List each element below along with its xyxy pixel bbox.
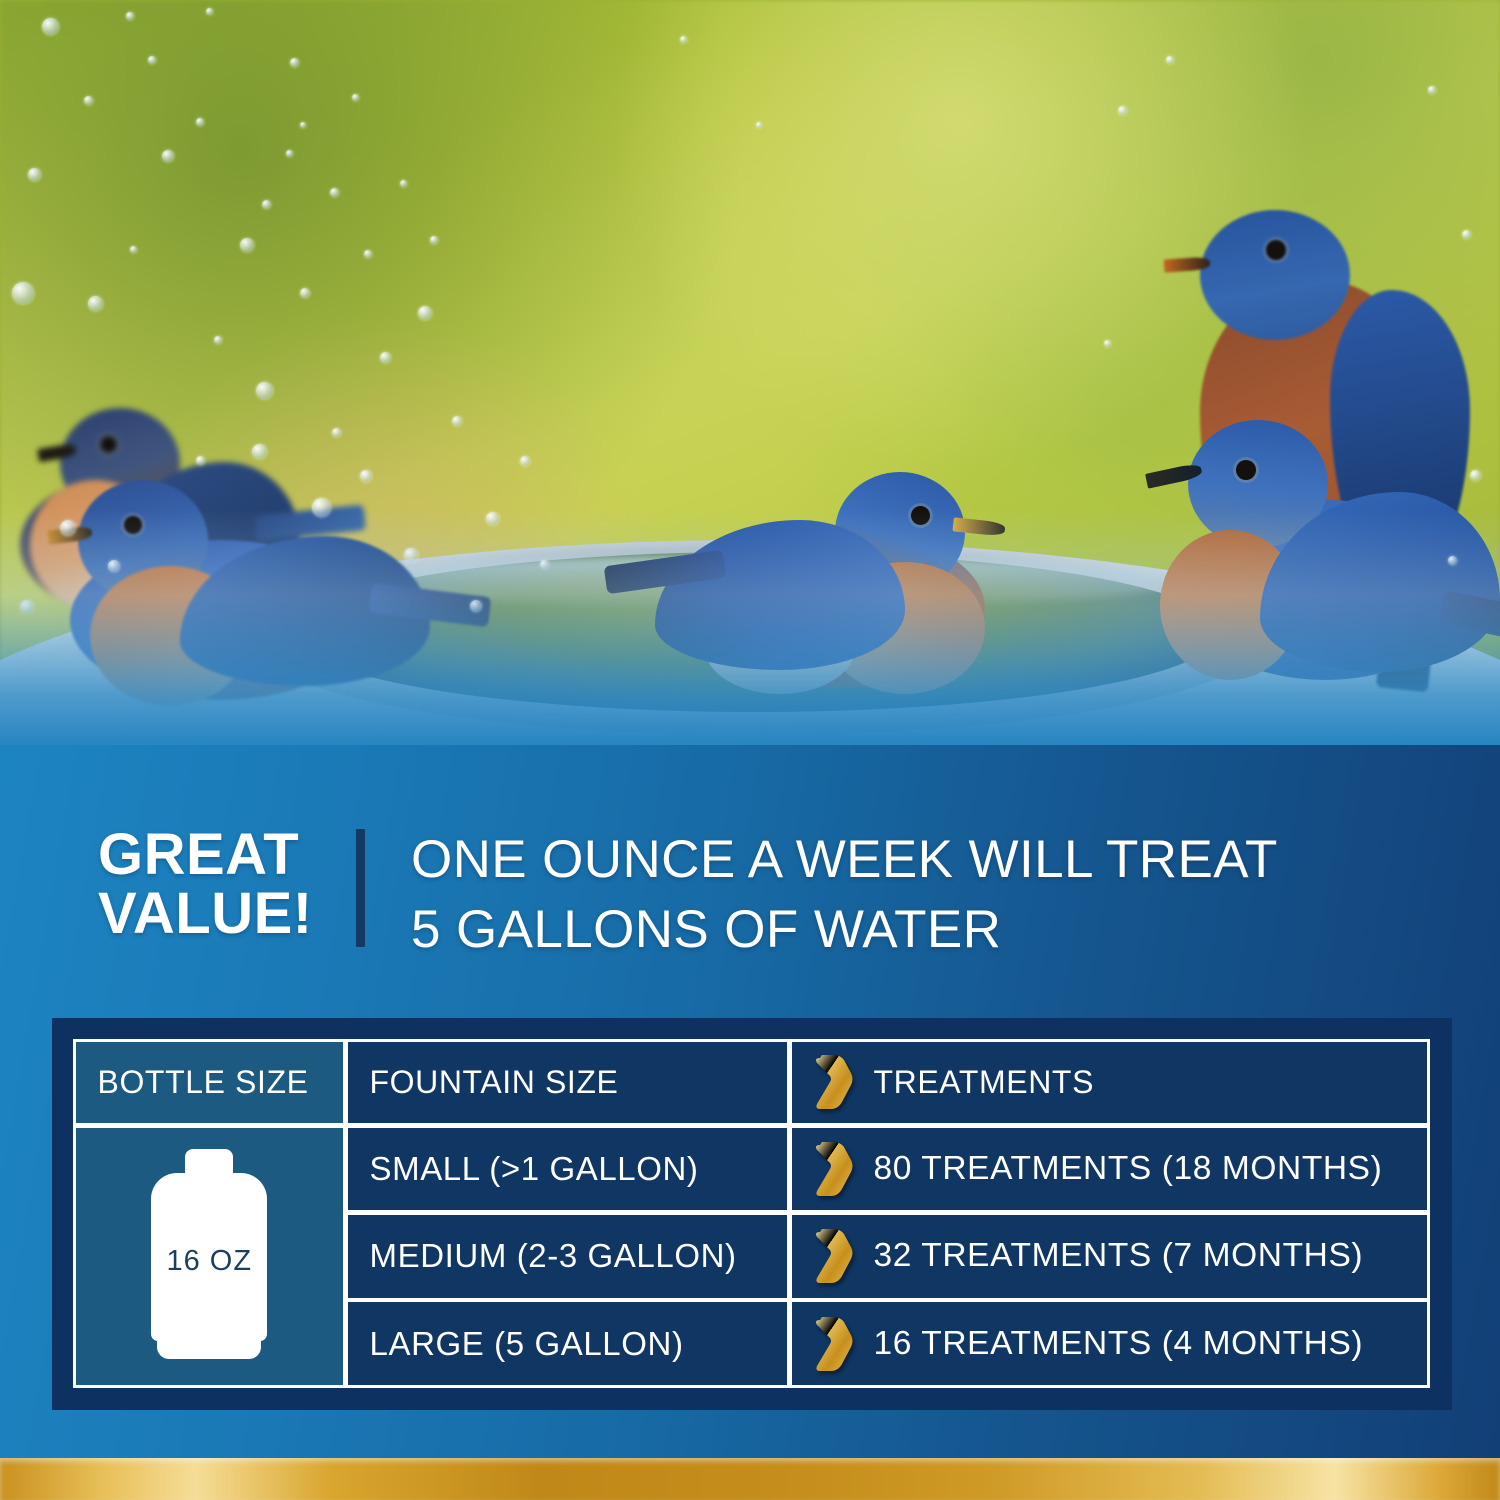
gold-chevron-icon bbox=[814, 1229, 854, 1283]
table-header-treatments: TREATMENTS bbox=[789, 1039, 1431, 1127]
table-header-treatments-label: TREATMENTS bbox=[874, 1064, 1095, 1101]
fountain-size-value: SMALL (>1 GALLON) bbox=[370, 1150, 699, 1188]
bottle-size-label: 16 OZ bbox=[143, 1245, 275, 1278]
great-value-badge: GREAT VALUE! bbox=[98, 825, 356, 943]
infographic-canvas: GREAT VALUE! ONE OUNCE A WEEK WILL TREAT… bbox=[0, 0, 1500, 1500]
tagline-text: ONE OUNCE A WEEK WILL TREAT 5 GALLONS OF… bbox=[411, 825, 1278, 965]
dosage-table-grid: BOTTLE SIZE FOUNTAIN SIZE bbox=[74, 1040, 1430, 1388]
table-row: MEDIUM (2-3 GALLON) bbox=[345, 1212, 791, 1301]
gold-chevron-icon bbox=[814, 1055, 854, 1109]
table-header-bottle-size: BOTTLE SIZE bbox=[73, 1039, 347, 1127]
bottom-gold-bar bbox=[0, 1458, 1500, 1500]
photo-bottom-fade bbox=[0, 510, 1500, 760]
headline-block: GREAT VALUE! ONE OUNCE A WEEK WILL TREAT… bbox=[98, 825, 1278, 965]
table-header-fountain-size-label: FOUNTAIN SIZE bbox=[370, 1064, 619, 1101]
table-cell-bottle: 16 OZ bbox=[73, 1125, 347, 1389]
fountain-size-value: MEDIUM (2-3 GALLON) bbox=[370, 1237, 737, 1275]
treatments-value: 80 TREATMENTS (18 MONTHS) bbox=[874, 1150, 1383, 1188]
table-row: 32 TREATMENTS (7 MONTHS) bbox=[789, 1212, 1431, 1301]
table-header-fountain-size: FOUNTAIN SIZE bbox=[345, 1039, 791, 1127]
treatments-value: 16 TREATMENTS (4 MONTHS) bbox=[874, 1325, 1364, 1363]
gold-chevron-icon bbox=[814, 1142, 854, 1196]
table-row: 80 TREATMENTS (18 MONTHS) bbox=[789, 1125, 1431, 1214]
bottle-base bbox=[157, 1331, 261, 1359]
headline-divider bbox=[356, 829, 365, 947]
dosage-table: BOTTLE SIZE FOUNTAIN SIZE bbox=[52, 1018, 1452, 1410]
table-row: 16 TREATMENTS (4 MONTHS) bbox=[789, 1299, 1431, 1388]
gold-chevron-icon bbox=[814, 1317, 854, 1371]
bluebirds-in-birdbath-photo bbox=[0, 0, 1500, 760]
great-value-line-2: VALUE! bbox=[98, 884, 356, 943]
table-row: SMALL (>1 GALLON) bbox=[345, 1125, 791, 1214]
treatments-value: 32 TREATMENTS (7 MONTHS) bbox=[874, 1237, 1364, 1275]
great-value-line-1: GREAT bbox=[98, 825, 356, 884]
table-row: LARGE (5 GALLON) bbox=[345, 1299, 791, 1388]
table-header-bottle-size-label: BOTTLE SIZE bbox=[98, 1064, 309, 1101]
bottle-icon: 16 OZ bbox=[143, 1149, 275, 1363]
fountain-size-value: LARGE (5 GALLON) bbox=[370, 1325, 684, 1363]
